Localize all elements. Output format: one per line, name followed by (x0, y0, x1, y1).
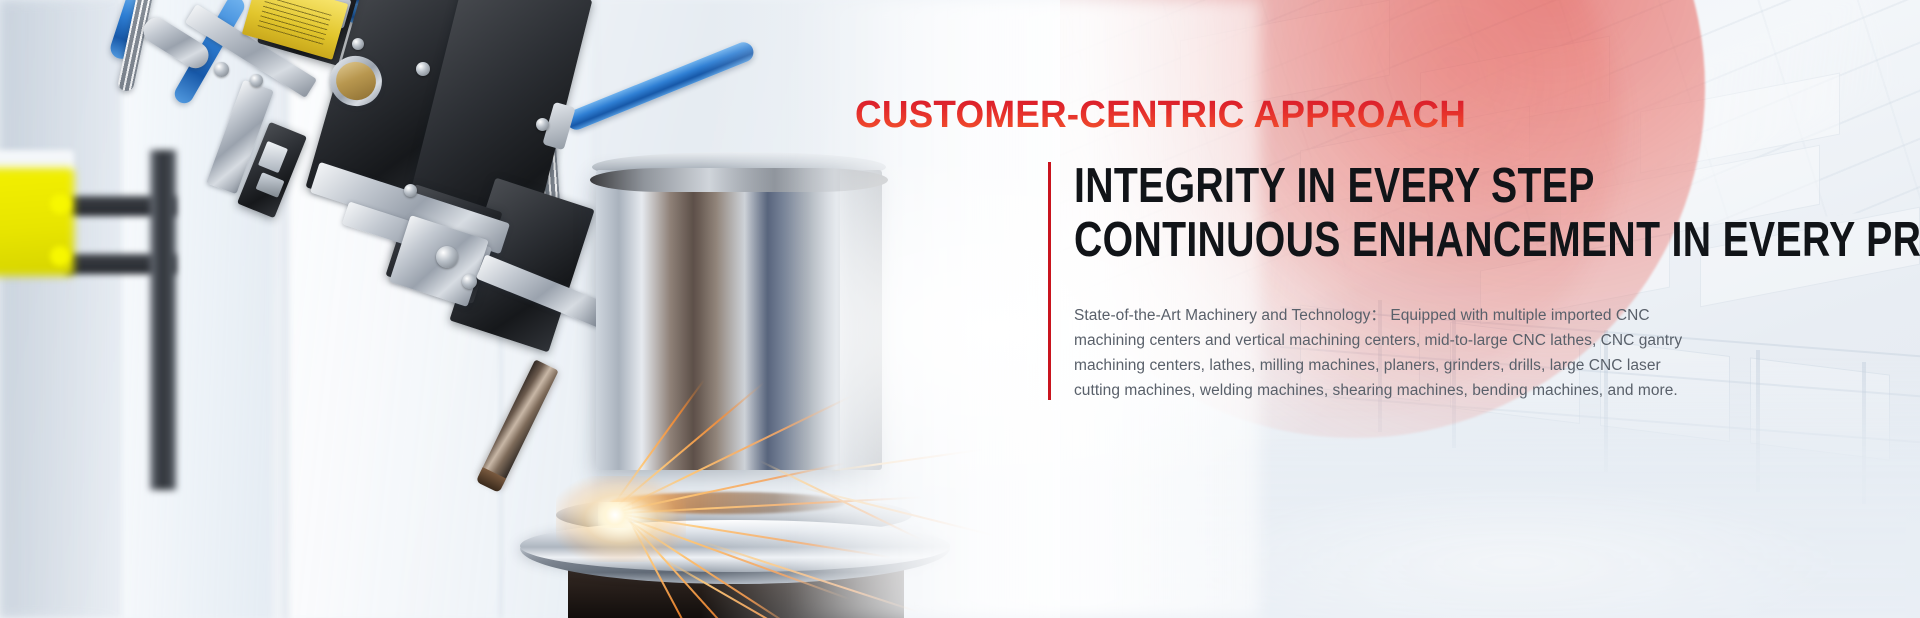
paragraph-line: machining centers, lathes, milling machi… (1074, 353, 1674, 378)
red-accent-bar (1048, 162, 1051, 400)
hero-banner: CUSTOMER-CENTRIC APPROACH INTEGRITY IN E… (0, 0, 1920, 618)
paragraph-line: cutting machines, welding machines, shea… (1074, 378, 1674, 403)
description-paragraph: State-of-the-Art Machinery and Technolog… (1074, 303, 1674, 403)
headline-line-2: CONTINUOUS ENHANCEMENT IN EVERY PROCESS (1074, 212, 1738, 268)
banner-content: CUSTOMER-CENTRIC APPROACH INTEGRITY IN E… (0, 0, 1920, 618)
paragraph-line: machining centers and vertical machining… (1074, 328, 1674, 353)
eyebrow-heading: CUSTOMER-CENTRIC APPROACH (855, 96, 1466, 134)
headline-line-1: INTEGRITY IN EVERY STEP (1074, 160, 1738, 212)
headline-group: INTEGRITY IN EVERY STEP CONTINUOUS ENHAN… (1074, 160, 1904, 268)
paragraph-line: State-of-the-Art Machinery and Technolog… (1074, 303, 1674, 328)
